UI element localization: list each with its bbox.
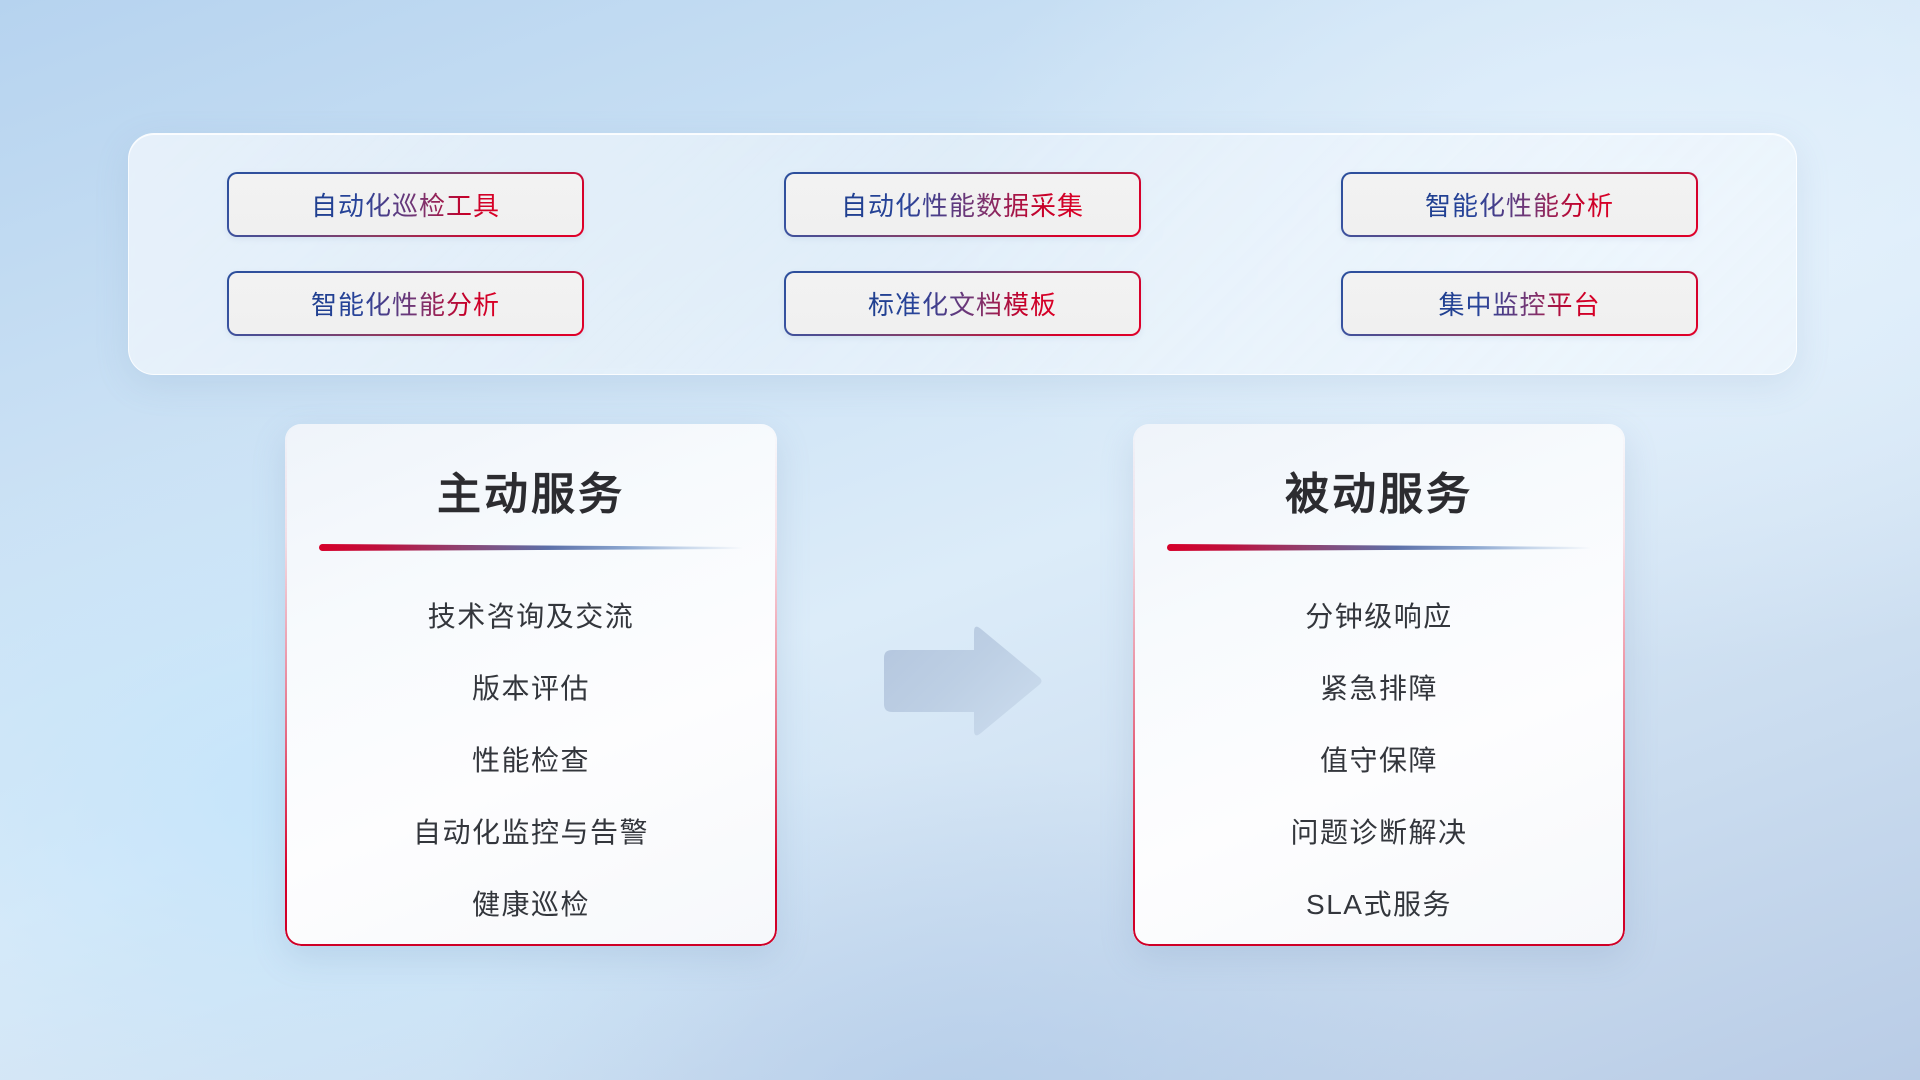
capability-pill-label: 智能化性能分析: [1425, 186, 1614, 223]
capability-pill-label: 智能化性能分析: [311, 285, 500, 322]
capability-pill-automated-performance-data-collection[interactable]: 自动化性能数据采集: [784, 172, 1141, 237]
card-title: 主动服务: [285, 458, 777, 522]
list-item: 健康巡检: [285, 869, 777, 941]
list-item: SLA式服务: [1133, 869, 1625, 941]
capability-pill-intelligent-performance-analysis-2[interactable]: 智能化性能分析: [227, 271, 584, 336]
capability-row: 自动化巡检工具 自动化性能数据采集 智能化性能分析: [227, 172, 1698, 237]
service-card-proactive: 主动服务 技术咨询及交流 版本评估 性能检查 自动化监控与告警 健康巡检: [285, 424, 777, 946]
capability-pill-centralized-monitoring-platform[interactable]: 集中监控平台: [1341, 271, 1698, 336]
list-item: 自动化监控与告警: [285, 797, 777, 869]
card-item-list: 分钟级响应 紧急排障 值守保障 问题诊断解决 SLA式服务: [1133, 581, 1625, 941]
capability-row: 智能化性能分析 标准化文档模板 集中监控平台: [227, 271, 1698, 336]
card-divider: [1167, 544, 1591, 551]
capability-pill-label: 自动化性能数据采集: [841, 186, 1084, 223]
card-divider: [319, 544, 743, 551]
list-item: 问题诊断解决: [1133, 797, 1625, 869]
card-title: 被动服务: [1133, 458, 1625, 522]
card-item-list: 技术咨询及交流 版本评估 性能检查 自动化监控与告警 健康巡检: [285, 581, 777, 941]
diagram-canvas: 自动化巡检工具 自动化性能数据采集 智能化性能分析 智能化性能分析 标准化文档模…: [0, 0, 1920, 1080]
list-item: 值守保障: [1133, 725, 1625, 797]
list-item: 技术咨询及交流: [285, 581, 777, 653]
capability-pill-label: 自动化巡检工具: [311, 186, 500, 223]
list-item: 版本评估: [285, 653, 777, 725]
list-item: 性能检查: [285, 725, 777, 797]
capability-pill-standardized-document-template[interactable]: 标准化文档模板: [784, 271, 1141, 336]
capability-pill-automated-inspection-tool[interactable]: 自动化巡检工具: [227, 172, 584, 237]
capability-pill-label: 集中监控平台: [1438, 285, 1600, 322]
right-arrow-icon: [876, 624, 1042, 736]
list-item: 紧急排障: [1133, 653, 1625, 725]
service-card-reactive: 被动服务 分钟级响应 紧急排障 值守保障 问题诊断解决 SLA式服务: [1133, 424, 1625, 946]
list-item: 分钟级响应: [1133, 581, 1625, 653]
capabilities-panel: 自动化巡检工具 自动化性能数据采集 智能化性能分析 智能化性能分析 标准化文档模…: [128, 133, 1797, 375]
capability-pill-intelligent-performance-analysis[interactable]: 智能化性能分析: [1341, 172, 1698, 237]
capability-pill-label: 标准化文档模板: [868, 285, 1057, 322]
